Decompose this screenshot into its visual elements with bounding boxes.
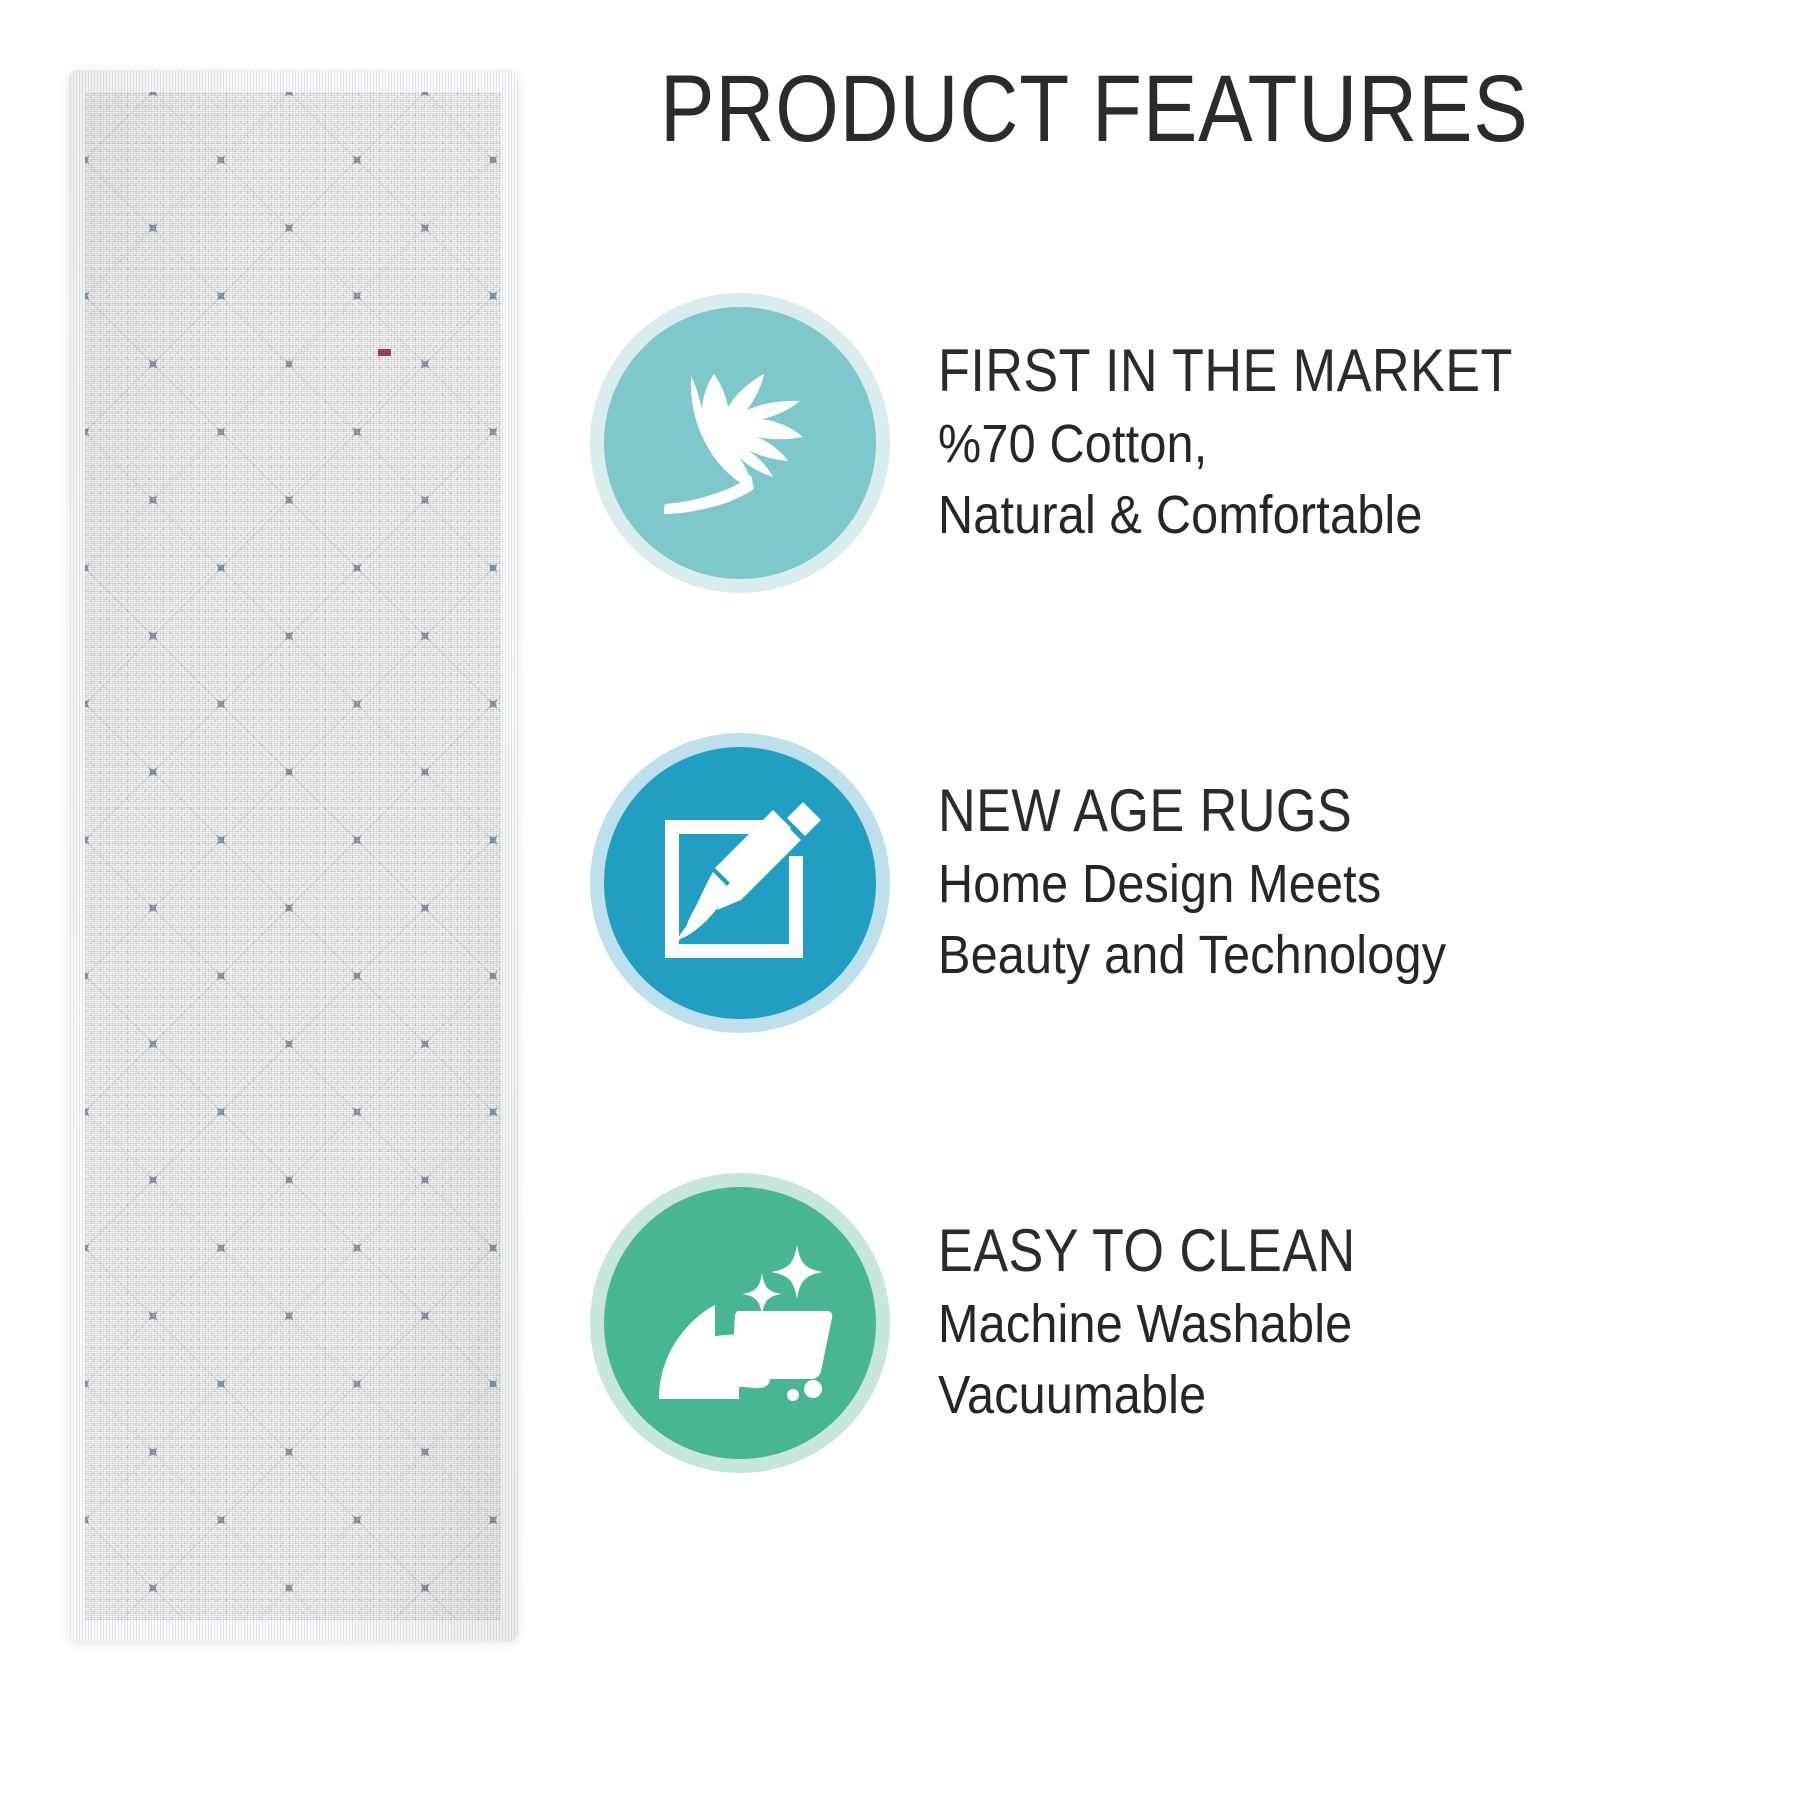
rug-brand-tag [378,349,391,356]
feature-heading: NEW AGE RUGS [938,780,1429,841]
rug-diamond-lattice [85,92,501,1620]
product-photo-runner-rug [68,70,518,1642]
feature-icon-badge-easy-to-clean [590,1173,890,1473]
feature-line-2: Natural & Comfortable [938,480,1533,550]
feature-text-easy-to-clean: EASY TO CLEAN Machine Washable Vacuumabl… [938,1216,1418,1430]
rug-body [68,70,518,1642]
page-title: PRODUCT FEATURES [660,62,1589,157]
feather-icon [650,368,830,518]
feature-row-easy-to-clean: EASY TO CLEAN Machine Washable Vacuumabl… [590,1168,1770,1478]
feature-line-2: Beauty and Technology [938,920,1446,990]
feature-line-1: %70 Cotton, [938,409,1533,479]
feature-icon-badge-new-age-rugs [590,733,890,1033]
feature-line-1: Machine Washable [938,1289,1370,1359]
rug-pattern-field [85,92,501,1620]
feature-icon-badge-first-in-the-market [590,293,890,593]
feature-heading: FIRST IN THE MARKET [938,340,1513,401]
product-features-infographic: PRODUCT FEATURES FIRST IN THE MARKET %70… [0,0,1800,1800]
feature-line-2: Vacuumable [938,1360,1370,1430]
feature-text-new-age-rugs: NEW AGE RUGS Home Design Meets Beauty an… [938,776,1503,990]
design-pencil-brush-icon [655,798,825,968]
feature-line-1: Home Design Meets [938,849,1446,919]
feature-heading: EASY TO CLEAN [938,1220,1356,1281]
feature-row-first-in-the-market: FIRST IN THE MARKET %70 Cotton, Natural … [590,288,1770,598]
feature-text-first-in-the-market: FIRST IN THE MARKET %70 Cotton, Natural … [938,336,1599,550]
feature-row-new-age-rugs: NEW AGE RUGS Home Design Meets Beauty an… [590,728,1770,1038]
cleaning-hand-sparkle-icon [645,1243,835,1403]
